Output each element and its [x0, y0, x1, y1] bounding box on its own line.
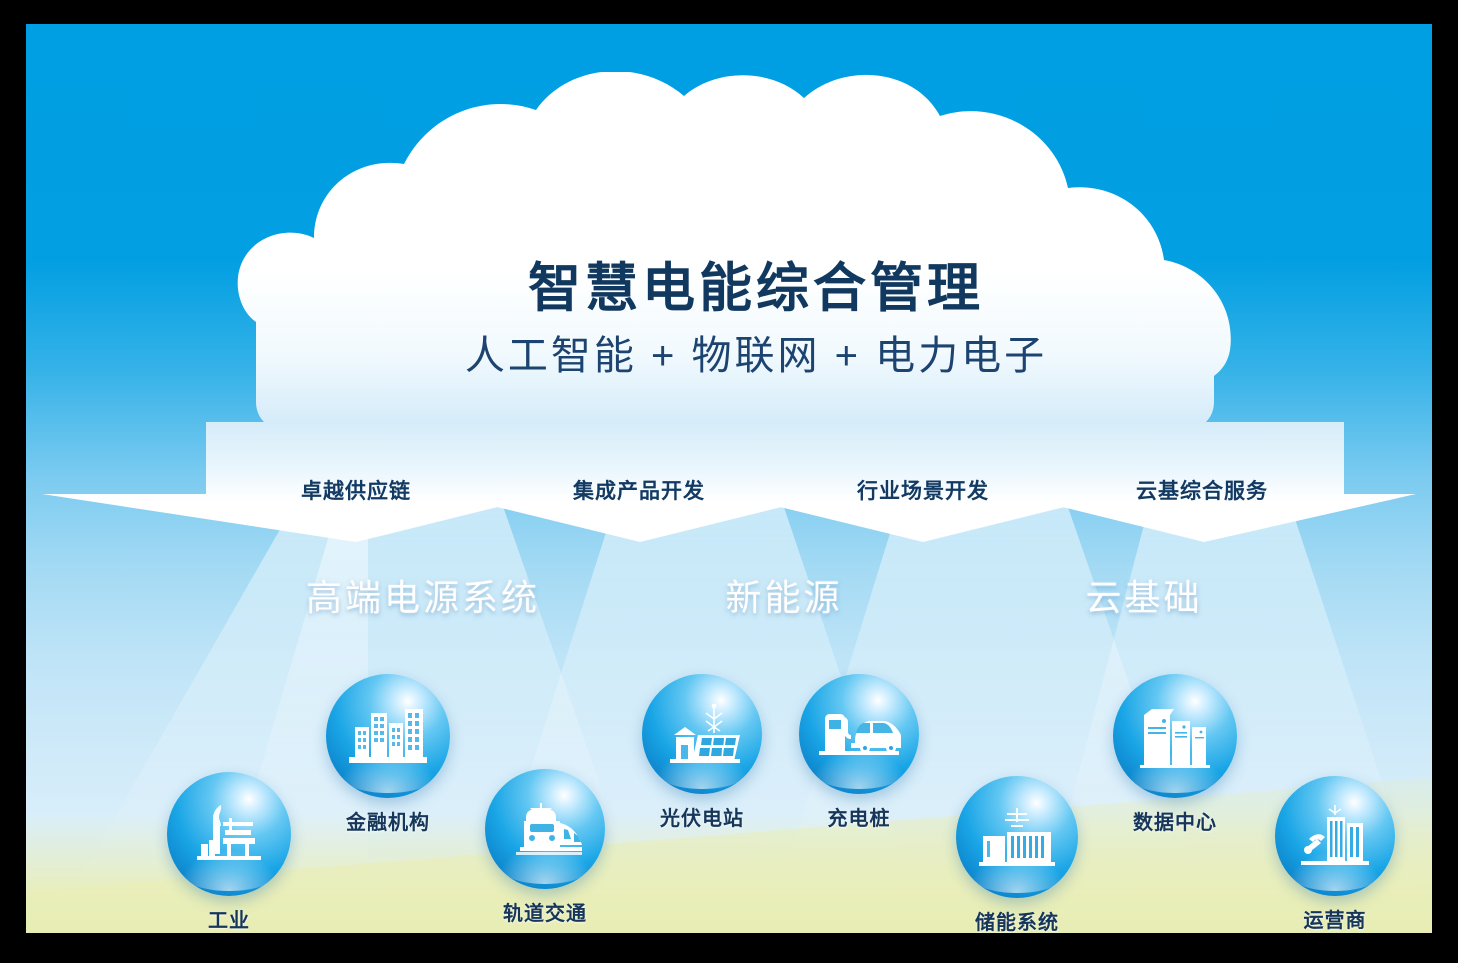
- data-center-icon: [1138, 701, 1212, 771]
- ev-charger-icon: [817, 707, 901, 761]
- industry-bubble[interactable]: [167, 772, 291, 896]
- node-industry[interactable]: 工业: [167, 772, 291, 933]
- infographic-canvas: 智慧电能综合管理 人工智能 + 物联网 + 电力电子: [26, 24, 1432, 933]
- node-financial[interactable]: 金融机构: [326, 674, 450, 835]
- operator-bubble[interactable]: [1275, 776, 1395, 896]
- solar-bubble[interactable]: [642, 674, 762, 794]
- factory-icon: [193, 800, 265, 868]
- storage-bubble[interactable]: [956, 776, 1078, 898]
- financial-bubble[interactable]: [326, 674, 450, 798]
- battery-storage-icon: [977, 804, 1057, 870]
- node-label: 储能系统: [956, 906, 1078, 933]
- rail-bubble[interactable]: [485, 769, 605, 889]
- train-icon: [506, 799, 584, 859]
- node-ev-charger[interactable]: 充电桩: [799, 674, 919, 831]
- telecom-tower-icon: [1299, 803, 1371, 869]
- node-label: 充电桩: [799, 802, 919, 831]
- node-label: 运营商: [1275, 904, 1395, 933]
- node-label: 金融机构: [326, 806, 450, 835]
- node-label: 工业: [167, 904, 291, 933]
- section-heading-2: 云基础: [1085, 569, 1202, 621]
- cloud-shape: [196, 72, 1316, 432]
- ev-charger-bubble[interactable]: [799, 674, 919, 794]
- node-data-center[interactable]: 数据中心: [1113, 674, 1237, 835]
- poster-frame: 智慧电能综合管理 人工智能 + 物联网 + 电力电子: [0, 0, 1458, 963]
- node-label: 数据中心: [1113, 806, 1237, 835]
- capability-labels: 卓越供应链 集成产品开发 行业场景开发 云基综合服务: [26, 422, 1432, 542]
- node-operator[interactable]: 运营商: [1275, 776, 1395, 933]
- solar-plant-icon: [662, 701, 742, 767]
- capability-label-1: 集成产品开发: [573, 475, 705, 505]
- node-rail-transit[interactable]: 轨道交通: [485, 769, 605, 926]
- node-energy-storage[interactable]: 储能系统: [956, 776, 1078, 933]
- section-headings: 高端电源系统 新能源 云基础: [26, 569, 1432, 639]
- section-heading-1: 新能源: [725, 569, 842, 621]
- node-label: 光伏电站: [642, 802, 762, 831]
- node-solar-plant[interactable]: 光伏电站: [642, 674, 762, 831]
- section-heading-0: 高端电源系统: [306, 569, 540, 621]
- office-buildings-icon: [349, 703, 427, 769]
- capability-label-2: 行业场景开发: [857, 475, 989, 505]
- data-center-bubble[interactable]: [1113, 674, 1237, 798]
- capability-label-3: 云基综合服务: [1136, 475, 1268, 505]
- node-label: 轨道交通: [485, 897, 605, 926]
- capability-label-0: 卓越供应链: [301, 475, 411, 505]
